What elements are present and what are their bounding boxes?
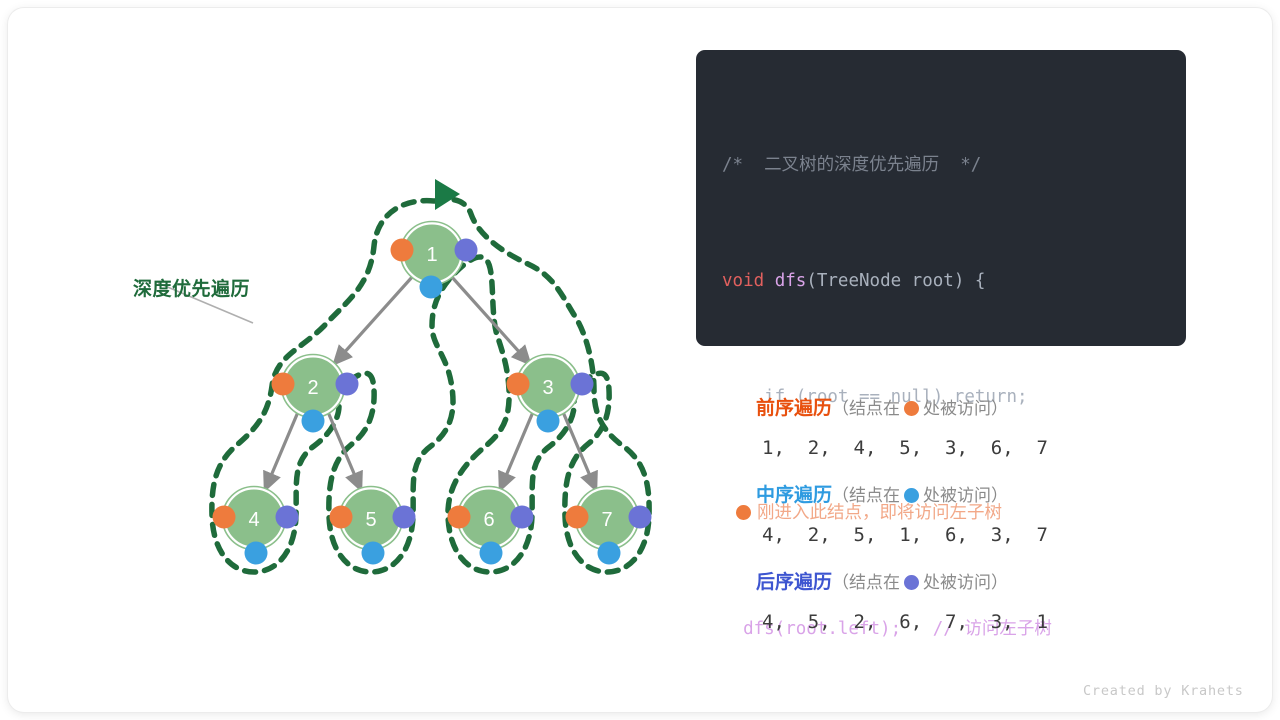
traversal-group-postorder: 后序遍历（结点在处被访问） 4, 5, 2, 6, 7, 3, 1: [756, 566, 1176, 644]
traversal-name: 后序遍历: [756, 572, 832, 593]
post-visit-dot: [629, 506, 652, 529]
post-visit-dot: [393, 506, 416, 529]
code-fn-name: dfs: [775, 271, 807, 291]
in-visit-dot: [598, 542, 621, 565]
figure-canvas: 1 2 3: [0, 0, 1280, 720]
in-visit-dot: [480, 542, 503, 565]
code-snippet-panel: /* 二叉树的深度优先遍历 */ void dfs(TreeNode root)…: [696, 50, 1186, 346]
post-visit-dot: [511, 506, 534, 529]
code-line-comment: /* 二叉树的深度优先遍历 */: [696, 151, 1186, 180]
pre-visit-dot: [330, 506, 353, 529]
code-signature-args: (TreeNode root) {: [806, 271, 985, 291]
node-label: 3: [542, 377, 553, 399]
traversal-group-inorder: 中序遍历（结点在处被访问） 4, 2, 5, 1, 6, 3, 7: [756, 479, 1176, 557]
in-visit-dot: [537, 410, 560, 433]
in-visit-dot: [362, 542, 385, 565]
traversal-paren-close: 处被访问）: [923, 399, 1008, 418]
traversal-name: 中序遍历: [756, 485, 832, 506]
traversal-paren-open: （结点在: [832, 486, 900, 505]
node-label: 1: [426, 244, 437, 266]
in-visit-dot: [245, 542, 268, 565]
node-label: 4: [248, 509, 259, 531]
pre-visit-dot: [272, 373, 295, 396]
pre-visit-dot: [391, 239, 414, 262]
traversal-legend: 前序遍历（结点在处被访问） 1, 2, 4, 5, 3, 6, 7 中序遍历（结…: [756, 392, 1176, 653]
code-line-signature: void dfs(TreeNode root) {: [696, 267, 1186, 296]
traversal-sequence: 4, 5, 2, 6, 7, 3, 1: [756, 600, 1176, 644]
traversal-paren-open: （结点在: [832, 399, 900, 418]
traversal-paren-open: （结点在: [832, 573, 900, 592]
traversal-paren-close: 处被访问）: [923, 573, 1008, 592]
credit-text: Created by Krahets: [1083, 683, 1244, 699]
pre-visit-dot: [448, 506, 471, 529]
traversal-heading: 中序遍历（结点在处被访问）: [756, 479, 1176, 513]
tree-node-3[interactable]: 3: [507, 355, 594, 433]
play-triangle-icon: [435, 179, 460, 210]
traversal-name: 前序遍历: [756, 398, 832, 419]
traversal-sequence: 4, 2, 5, 1, 6, 3, 7: [756, 513, 1176, 557]
code-space: [764, 271, 775, 291]
traversal-sequence: 1, 2, 4, 5, 3, 6, 7: [756, 426, 1176, 470]
traversal-heading: 后序遍历（结点在处被访问）: [756, 566, 1176, 600]
post-visit-dot: [276, 506, 299, 529]
pre-visit-dot-icon: [736, 505, 751, 520]
tree-node-2[interactable]: 2: [272, 355, 359, 433]
pre-visit-dot-icon: [904, 401, 919, 416]
post-visit-dot: [571, 373, 594, 396]
node-label: 6: [483, 509, 494, 531]
traversal-heading: 前序遍历（结点在处被访问）: [756, 392, 1176, 426]
code-comment-text: /* 二叉树的深度优先遍历 */: [722, 155, 981, 175]
code-keyword-void: void: [722, 271, 764, 291]
dfs-callout-label: 深度优先遍历: [133, 274, 250, 301]
pre-visit-dot: [213, 506, 236, 529]
node-label: 7: [601, 509, 612, 531]
in-visit-dot: [420, 276, 443, 299]
node-label: 5: [365, 509, 376, 531]
in-visit-dot-icon: [904, 488, 919, 503]
edge-2-4: [265, 412, 298, 490]
post-visit-dot-icon: [904, 575, 919, 590]
figure-card: 1 2 3: [8, 8, 1272, 712]
post-visit-dot: [455, 239, 478, 262]
in-visit-dot: [302, 410, 325, 433]
post-visit-dot: [336, 373, 359, 396]
pre-visit-dot: [566, 506, 589, 529]
tree-svg: 1 2 3: [48, 38, 688, 658]
binary-tree-diagram: 1 2 3: [48, 38, 688, 658]
edge-1-2: [334, 276, 413, 364]
pre-visit-dot: [507, 373, 530, 396]
node-label: 2: [307, 377, 318, 399]
traversal-group-preorder: 前序遍历（结点在处被访问） 1, 2, 4, 5, 3, 6, 7: [756, 392, 1176, 470]
tree-node-5[interactable]: 5: [330, 487, 416, 565]
traversal-paren-close: 处被访问）: [923, 486, 1008, 505]
